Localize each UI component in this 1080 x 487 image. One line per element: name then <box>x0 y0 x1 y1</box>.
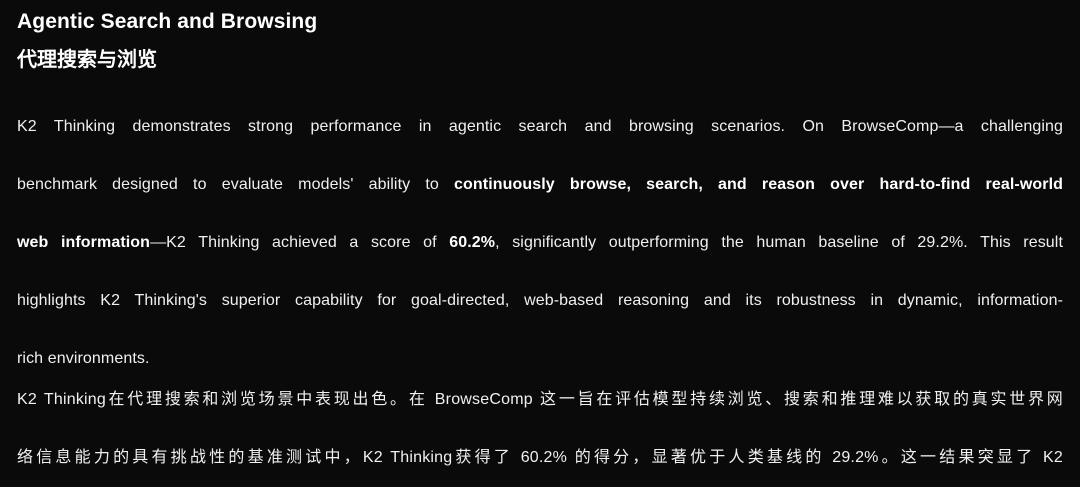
text-run: rich environments. <box>17 350 150 367</box>
paragraph-1-english: K2 Thinking demonstrates strong performa… <box>17 112 1063 373</box>
text-line: highlights K2 Thinking's superior capabi… <box>17 286 1063 344</box>
emphasis-bold: continuously browse, search, and reason … <box>454 176 1063 193</box>
page-title-english: Agentic Search and Browsing <box>17 0 1063 36</box>
text-run: K2 Thinking demonstrates strong performa… <box>17 118 1063 135</box>
paragraph-2-chinese: K2 Thinking在代理搜索和浏览场景中表现出色。在 BrowseComp … <box>17 385 1063 487</box>
text-line: K2 Thinking在代理搜索和浏览场景中表现出色。在 BrowseComp … <box>17 385 1063 443</box>
emphasis-bold: 60.2% <box>449 234 495 251</box>
text-run: K2 Thinking在代理搜索和浏览场景中表现出色。在 BrowseComp … <box>17 391 1063 408</box>
text-line: benchmark designed to evaluate models' a… <box>17 170 1063 228</box>
text-line: web information—K2 Thinking achieved a s… <box>17 228 1063 286</box>
text-run: , significantly outperforming the human … <box>495 234 1063 251</box>
page-title-chinese: 代理搜索与浏览 <box>17 36 1063 74</box>
text-run: 络信息能力的具有挑战性的基准测试中，K2 Thinking获得了 60.2% 的… <box>17 449 1063 466</box>
text-line: rich environments. <box>17 344 1063 373</box>
emphasis-bold: web information <box>17 234 150 251</box>
text-run: highlights K2 Thinking's superior capabi… <box>17 292 1063 309</box>
document-page: Agentic Search and Browsing 代理搜索与浏览 K2 T… <box>0 0 1080 487</box>
text-run: —K2 Thinking achieved a score of <box>150 234 449 251</box>
heading-body-spacer <box>17 74 1063 112</box>
text-line: 络信息能力的具有挑战性的基准测试中，K2 Thinking获得了 60.2% 的… <box>17 443 1063 487</box>
text-line: K2 Thinking demonstrates strong performa… <box>17 112 1063 170</box>
text-run: benchmark designed to evaluate models' a… <box>17 176 454 193</box>
